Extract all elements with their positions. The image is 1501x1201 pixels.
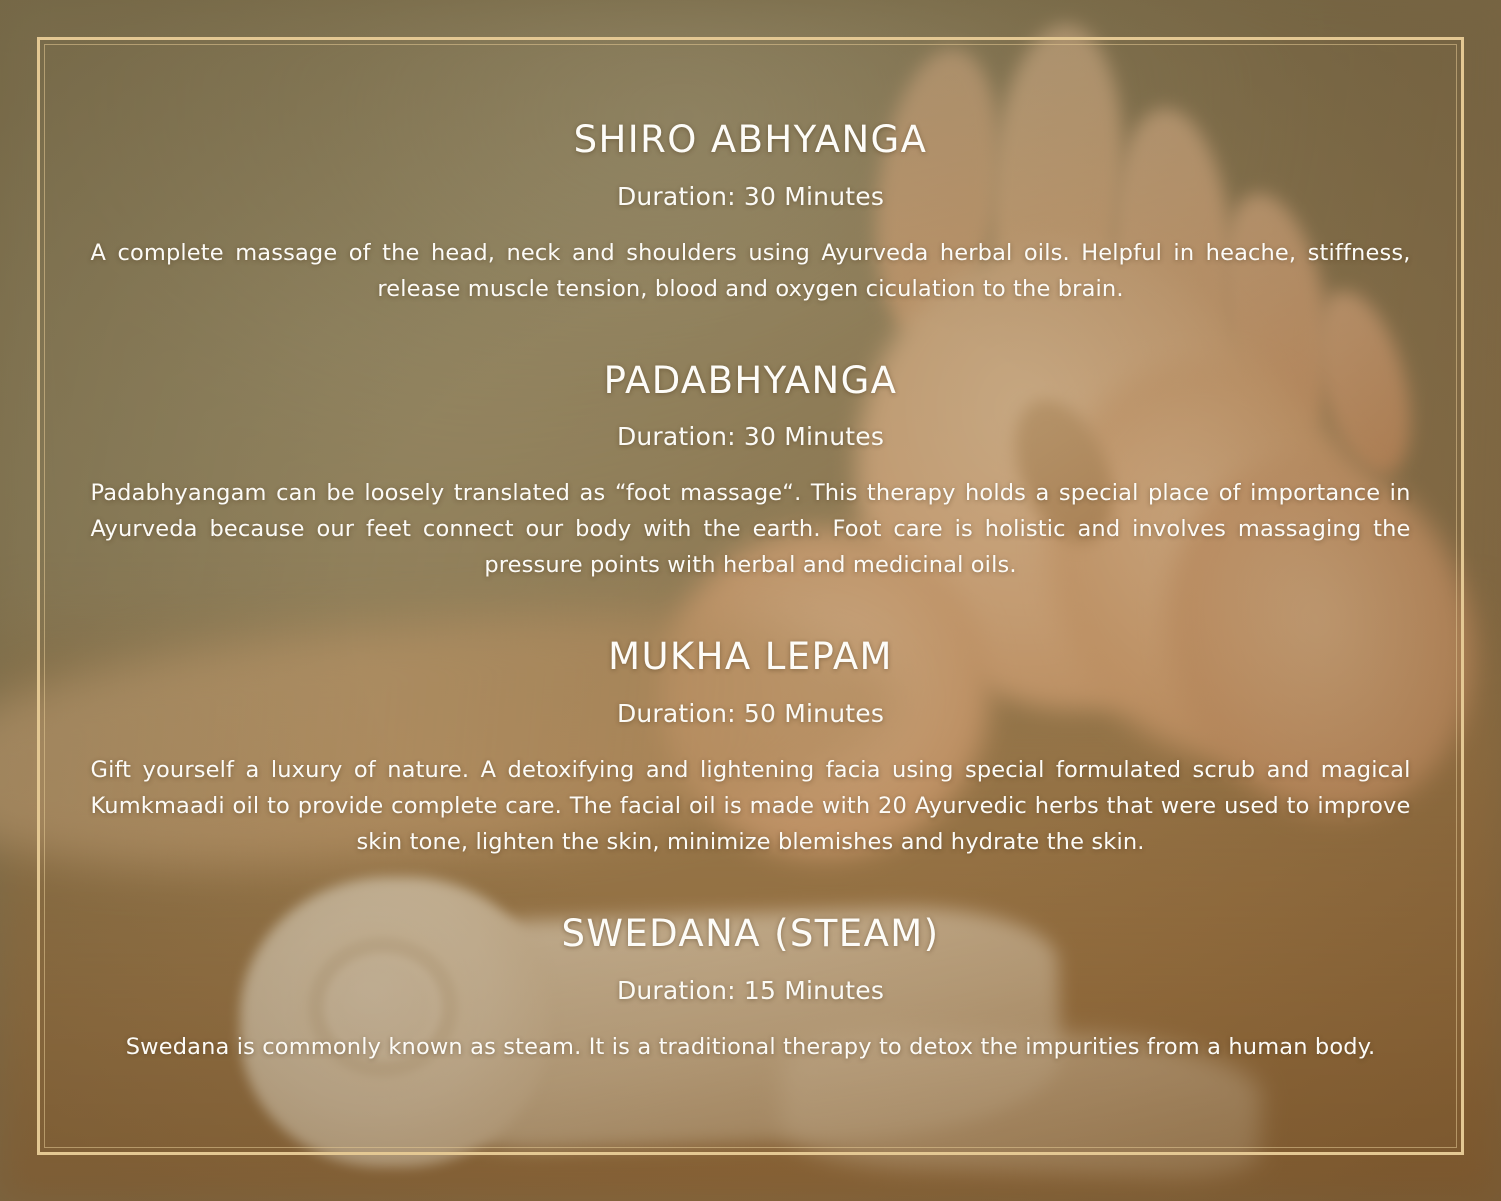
treatment-item-padabhyanga: PADABHYANGA Duration: 30 Minutes Padabhy…	[91, 359, 1411, 584]
treatment-description: Swedana is commonly known as steam. It i…	[91, 1029, 1411, 1065]
treatment-duration: Duration: 30 Minutes	[91, 182, 1411, 211]
treatment-duration: Duration: 30 Minutes	[91, 422, 1411, 451]
treatment-duration: Duration: 15 Minutes	[91, 976, 1411, 1005]
spa-treatment-menu-poster: SHIRO ABHYANGA Duration: 30 Minutes A co…	[0, 0, 1501, 1201]
treatment-title: SHIRO ABHYANGA	[91, 118, 1411, 162]
treatment-item-swedana-steam: SWEDANA (STEAM) Duration: 15 Minutes Swe…	[91, 912, 1411, 1065]
treatment-list: SHIRO ABHYANGA Duration: 30 Minutes A co…	[91, 0, 1411, 1065]
treatment-item-mukha-lepam: MUKHA LEPAM Duration: 50 Minutes Gift yo…	[91, 635, 1411, 860]
treatment-description: Padabhyangam can be loosely translated a…	[91, 475, 1411, 583]
treatment-title: PADABHYANGA	[91, 359, 1411, 403]
treatment-description: A complete massage of the head, neck and…	[91, 235, 1411, 307]
treatment-duration: Duration: 50 Minutes	[91, 699, 1411, 728]
treatment-description: Gift yourself a luxury of nature. A deto…	[91, 752, 1411, 860]
treatment-title: MUKHA LEPAM	[91, 635, 1411, 679]
treatment-item-shiro-abhyanga: SHIRO ABHYANGA Duration: 30 Minutes A co…	[91, 118, 1411, 307]
treatment-title: SWEDANA (STEAM)	[91, 912, 1411, 956]
